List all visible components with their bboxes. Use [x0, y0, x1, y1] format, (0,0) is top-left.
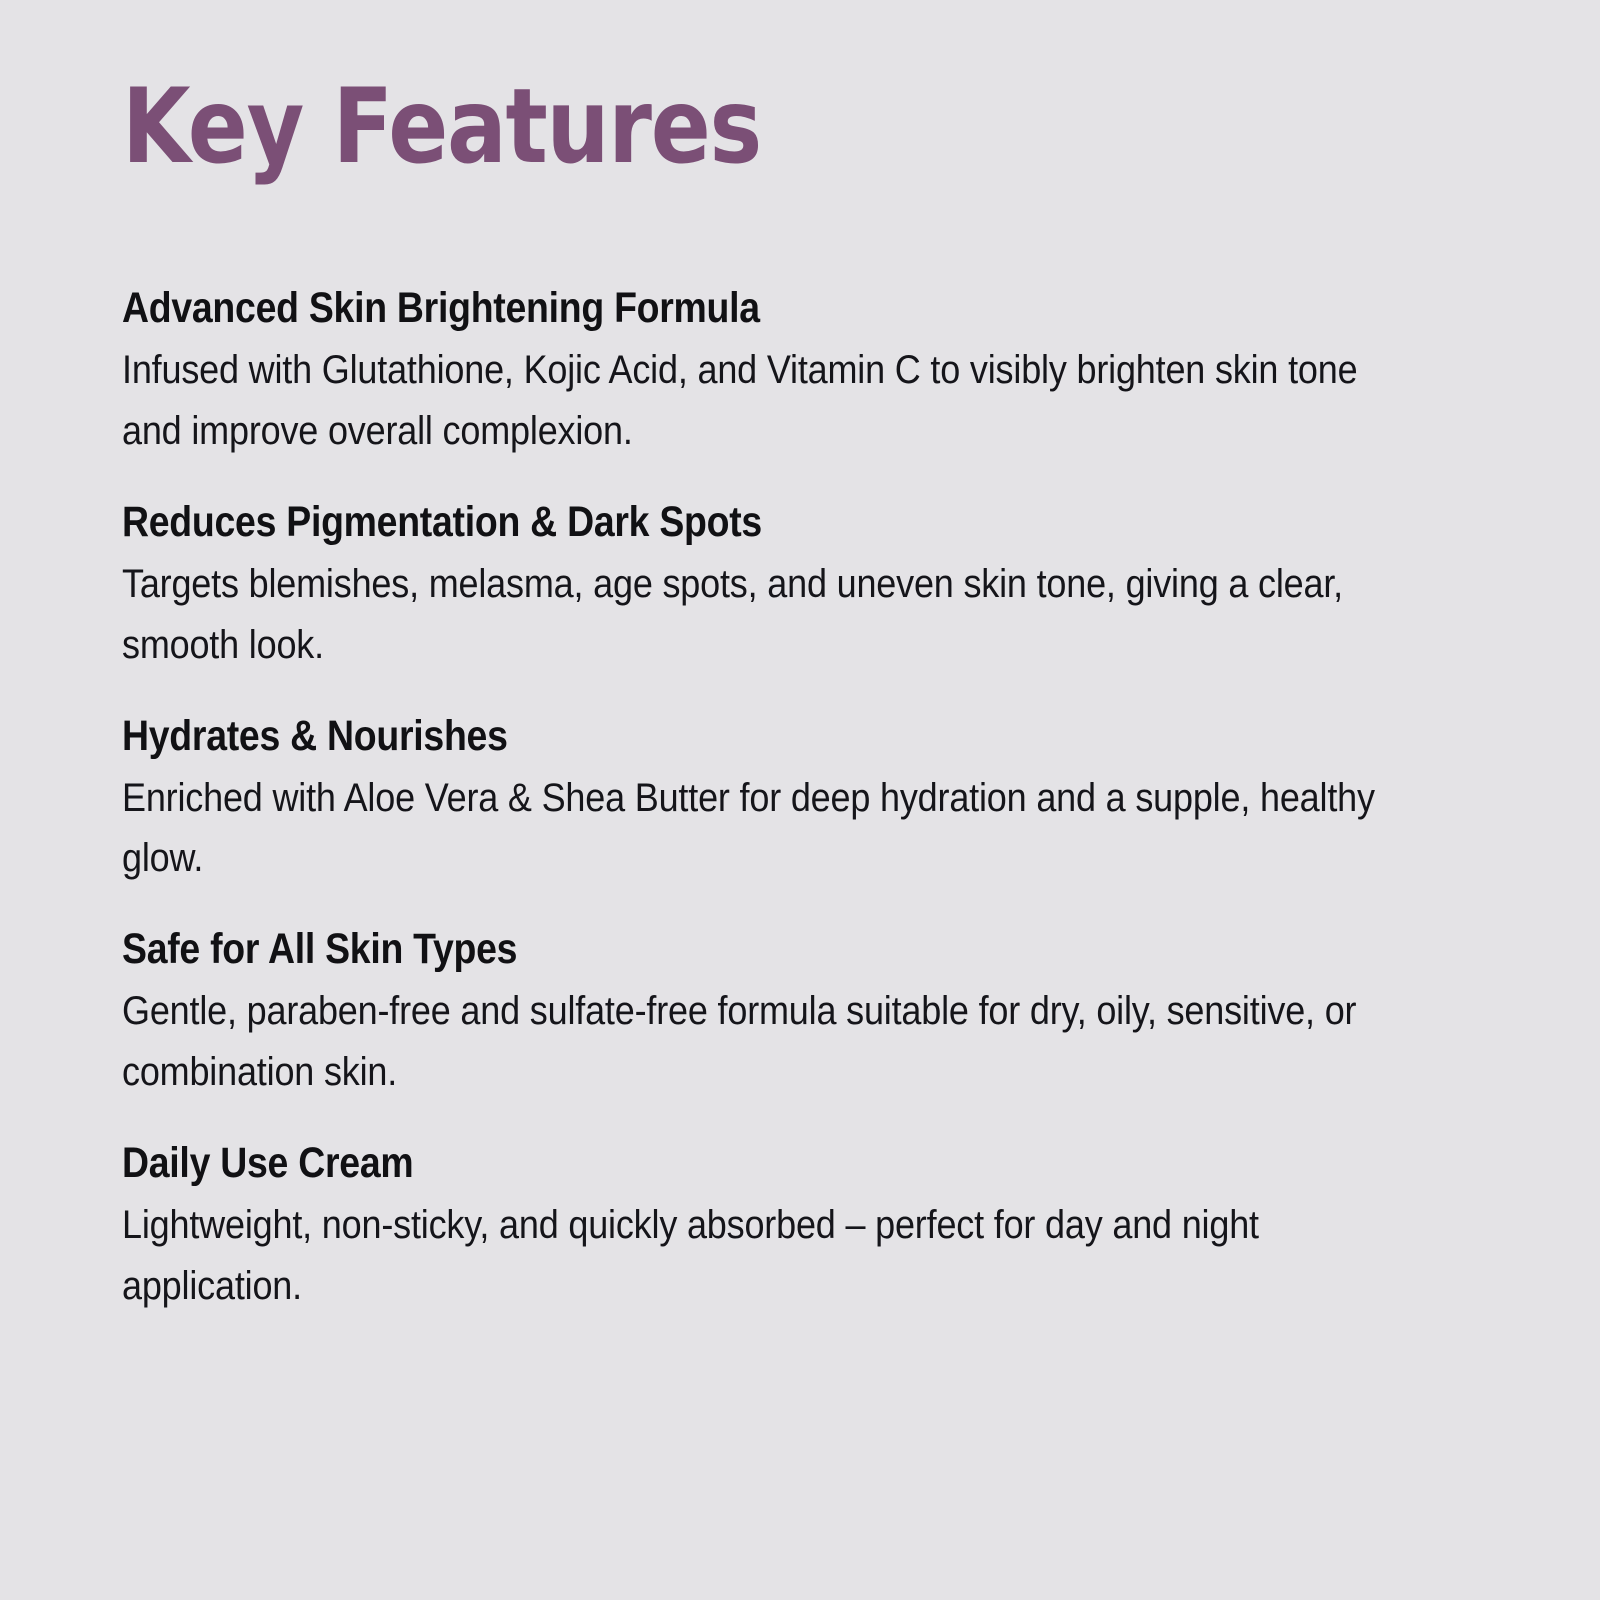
- feature-description: Enriched with Aloe Vera & Shea Butter fo…: [122, 768, 1409, 890]
- feature-heading: Advanced Skin Brightening Formula: [122, 284, 1253, 332]
- feature-heading: Reduces Pigmentation & Dark Spots: [122, 498, 1253, 546]
- feature-description: Targets blemishes, melasma, age spots, a…: [122, 554, 1409, 676]
- feature-list: Advanced Skin Brightening Formula Infuse…: [122, 284, 1422, 1317]
- page-title-container: Key Features: [122, 72, 1422, 183]
- feature-item-advanced-skin-brightening-formula: Advanced Skin Brightening Formula Infuse…: [122, 284, 1422, 462]
- feature-item-daily-use-cream: Daily Use Cream Lightweight, non-sticky,…: [122, 1139, 1422, 1317]
- page-title: Key Features: [122, 72, 1240, 183]
- feature-description: Lightweight, non-sticky, and quickly abs…: [122, 1195, 1409, 1317]
- feature-description: Gentle, paraben-free and sulfate-free fo…: [122, 981, 1409, 1103]
- feature-item-hydrates-nourishes: Hydrates & Nourishes Enriched with Aloe …: [122, 712, 1422, 890]
- feature-heading: Safe for All Skin Types: [122, 925, 1253, 973]
- key-features-panel: Key Features Advanced Skin Brightening F…: [0, 0, 1600, 1600]
- feature-description: Infused with Glutathione, Kojic Acid, an…: [122, 340, 1409, 462]
- feature-heading: Hydrates & Nourishes: [122, 712, 1253, 760]
- feature-heading: Daily Use Cream: [122, 1139, 1253, 1187]
- feature-item-safe-for-all-skin-types: Safe for All Skin Types Gentle, paraben-…: [122, 925, 1422, 1103]
- feature-item-reduces-pigmentation-dark-spots: Reduces Pigmentation & Dark Spots Target…: [122, 498, 1422, 676]
